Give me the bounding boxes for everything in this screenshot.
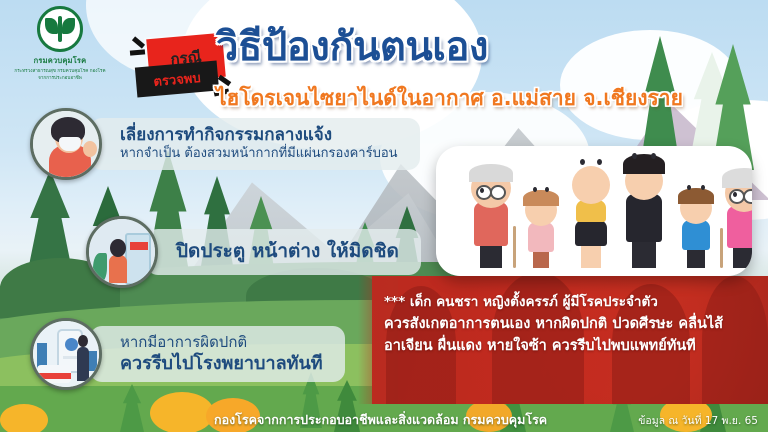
- footer-data-date: ข้อมูล ณ วันที่ 17 พ.ย. 65: [638, 412, 758, 429]
- advice-line-1: หากมีอาการผิดปกติ: [120, 333, 323, 352]
- ministry-emblem-icon: [37, 6, 83, 52]
- advice-item-3: หากมีอาการผิดปกติ ควรรีบไปโรงพยาบาลทันที: [30, 318, 345, 390]
- flower-decoration: [0, 404, 48, 432]
- family-group-illustration: [436, 146, 752, 276]
- advice-item-2: ปิดประตู หน้าต่าง ให้มิดชิด: [86, 216, 421, 288]
- spark-icon: [130, 49, 145, 55]
- advice-line-2: ควรรีบไปโรงพยาบาลทันที: [120, 352, 323, 375]
- footer-organization: กองโรคจากการประกอบอาชีพและสิ่งแวดล้อม กร…: [214, 410, 547, 430]
- family-member-man-in-suit: [622, 150, 666, 268]
- agency-logo: กรมควบคุมโรค กระทรวงสาธารณสุข กรมควบคุมโ…: [12, 6, 108, 82]
- alert-line-2: ควรสังเกตอาการตนเอง หากผิดปกติ ปวดศีรษะ …: [384, 313, 768, 335]
- advice-text-pill: เลี่ยงการทำกิจกรรมกลางแจ้ง หากจำเป็น ต้อ…: [90, 118, 420, 170]
- woman-wearing-face-mask-icon: [30, 108, 102, 180]
- advice-line-1: เลี่ยงการทำกิจกรรมกลางแจ้ง: [120, 125, 398, 146]
- telemedicine-ambulance-icon: [30, 318, 102, 390]
- spark-icon: [132, 36, 145, 48]
- advice-text-pill: หากมีอาการผิดปกติ ควรรีบไปโรงพยาบาลทันที: [90, 326, 345, 382]
- agency-subtitle: กระทรวงสาธารณสุข กรมควบคุมโรค กองโรคจากก…: [12, 68, 108, 82]
- infographic-poster: กรมควบคุมโรค กระทรวงสาธารณสุข กรมควบคุมโ…: [0, 0, 768, 432]
- advice-line-1: ปิดประตู หน้าต่าง ให้มิดชิด: [176, 240, 399, 264]
- stamp-line2: ตรวจพบ: [153, 66, 202, 91]
- advice-text-pill: ปิดประตู หน้าต่าง ให้มิดชิด: [146, 229, 421, 275]
- person-closing-door-icon: [86, 216, 158, 288]
- alert-message: *** เด็ก คนชรา หญิงตั้งครรภ์ ผู้มีโรคประ…: [384, 292, 768, 358]
- case-detected-stamp: กรณี ตรวจพบ: [130, 34, 230, 104]
- family-member-grandmother-with-cane: [722, 164, 752, 268]
- family-member-grandfather-with-cane: [468, 162, 514, 268]
- advice-item-1: เลี่ยงการทำกิจกรรมกลางแจ้ง หากจำเป็น ต้อ…: [30, 108, 420, 180]
- stamp-black-plate: ตรวจพบ: [135, 60, 219, 97]
- alert-line-3: อาเจียน ผื่นแดง หายใจซ้า ควรรีบไปพบแพทย์…: [384, 335, 768, 357]
- family-member-young-boy: [678, 182, 714, 268]
- alert-line-1: *** เด็ก คนชรา หญิงตั้งครรภ์ ผู้มีโรคประ…: [384, 292, 768, 313]
- page-title: วิธีป้องกันตนเอง: [216, 14, 488, 78]
- flower-decoration: [150, 392, 214, 432]
- agency-name: กรมควบคุมโรค: [12, 55, 108, 67]
- family-member-young-girl: [524, 184, 558, 268]
- family-member-woman: [570, 156, 612, 268]
- advice-line-2: หากจำเป็น ต้องสวมหน้ากากที่มีแผ่นกรองคาร…: [120, 146, 398, 163]
- grass-decoration: [120, 384, 144, 432]
